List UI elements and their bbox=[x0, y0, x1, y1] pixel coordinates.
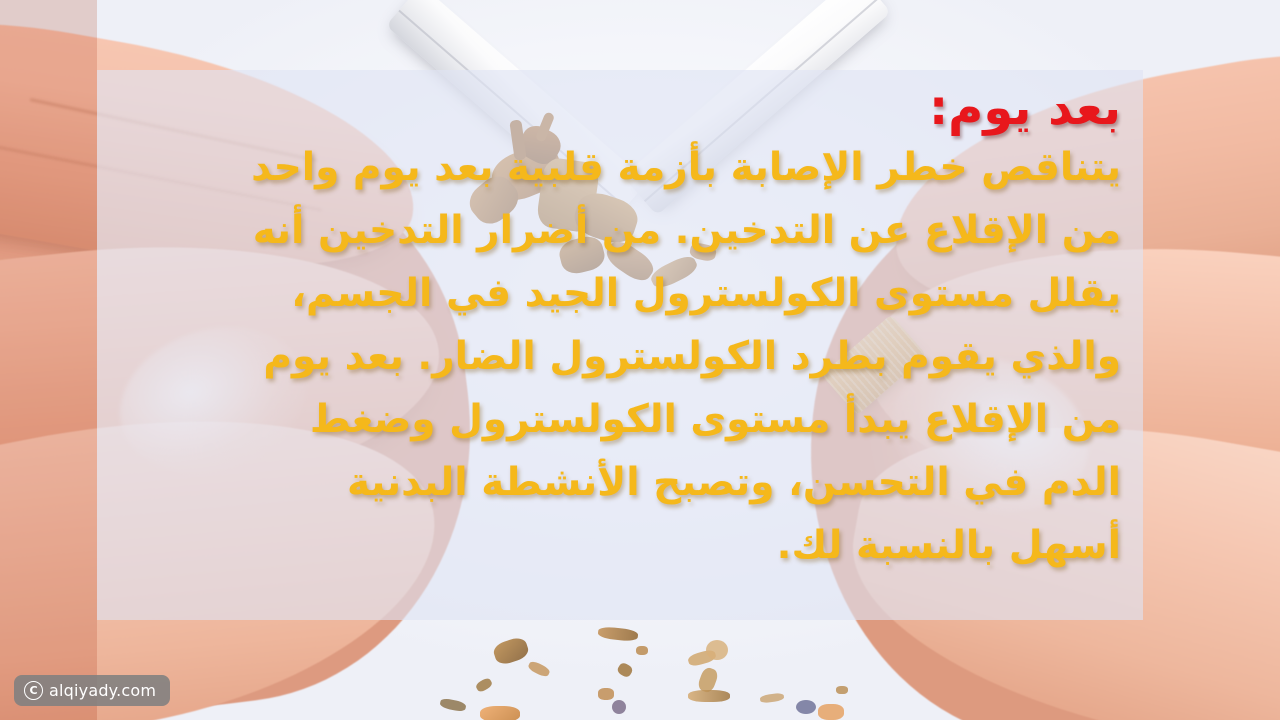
infographic-canvas: بعد يوم: يتناقص خطر الإصابة بأزمة قلبية … bbox=[0, 0, 1280, 720]
tobacco-flake bbox=[688, 690, 730, 702]
tobacco-flake bbox=[598, 688, 614, 700]
tobacco-flake bbox=[706, 640, 728, 660]
body-line-1: يتناقص خطر الإصابة بأزمة قلبية بعد يوم و… bbox=[119, 136, 1121, 199]
body-line-6: الدم في التحسن، وتصبح الأنشطة البدنية bbox=[119, 451, 1121, 514]
page-title: بعد يوم: bbox=[119, 82, 1121, 136]
tobacco-flake bbox=[818, 704, 844, 720]
body-line-7: أسهل بالنسبة لك. bbox=[119, 514, 1121, 577]
body-line-3: يقلل مستوى الكولسترول الجيد في الجسم، bbox=[119, 262, 1121, 325]
tobacco-flake bbox=[796, 700, 816, 714]
tobacco-flake bbox=[636, 646, 648, 655]
copyright-icon: C bbox=[24, 681, 43, 700]
tobacco-flake bbox=[836, 686, 848, 694]
tobacco-flake bbox=[480, 706, 520, 720]
watermark-badge[interactable]: C alqiyady.com bbox=[14, 675, 170, 706]
body-line-5: من الإقلاع يبدأ مستوى الكولسترول وضغط bbox=[119, 388, 1121, 451]
tobacco-flake bbox=[612, 700, 626, 714]
body-line-4: والذي يقوم بطرد الكولسترول الضار. بعد يو… bbox=[119, 325, 1121, 388]
watermark-site-label: alqiyady.com bbox=[49, 681, 156, 700]
body-line-2: من الإقلاع عن التدخين. من أضرار التدخين … bbox=[119, 199, 1121, 262]
caption-text-block: بعد يوم: يتناقص خطر الإصابة بأزمة قلبية … bbox=[97, 70, 1143, 620]
